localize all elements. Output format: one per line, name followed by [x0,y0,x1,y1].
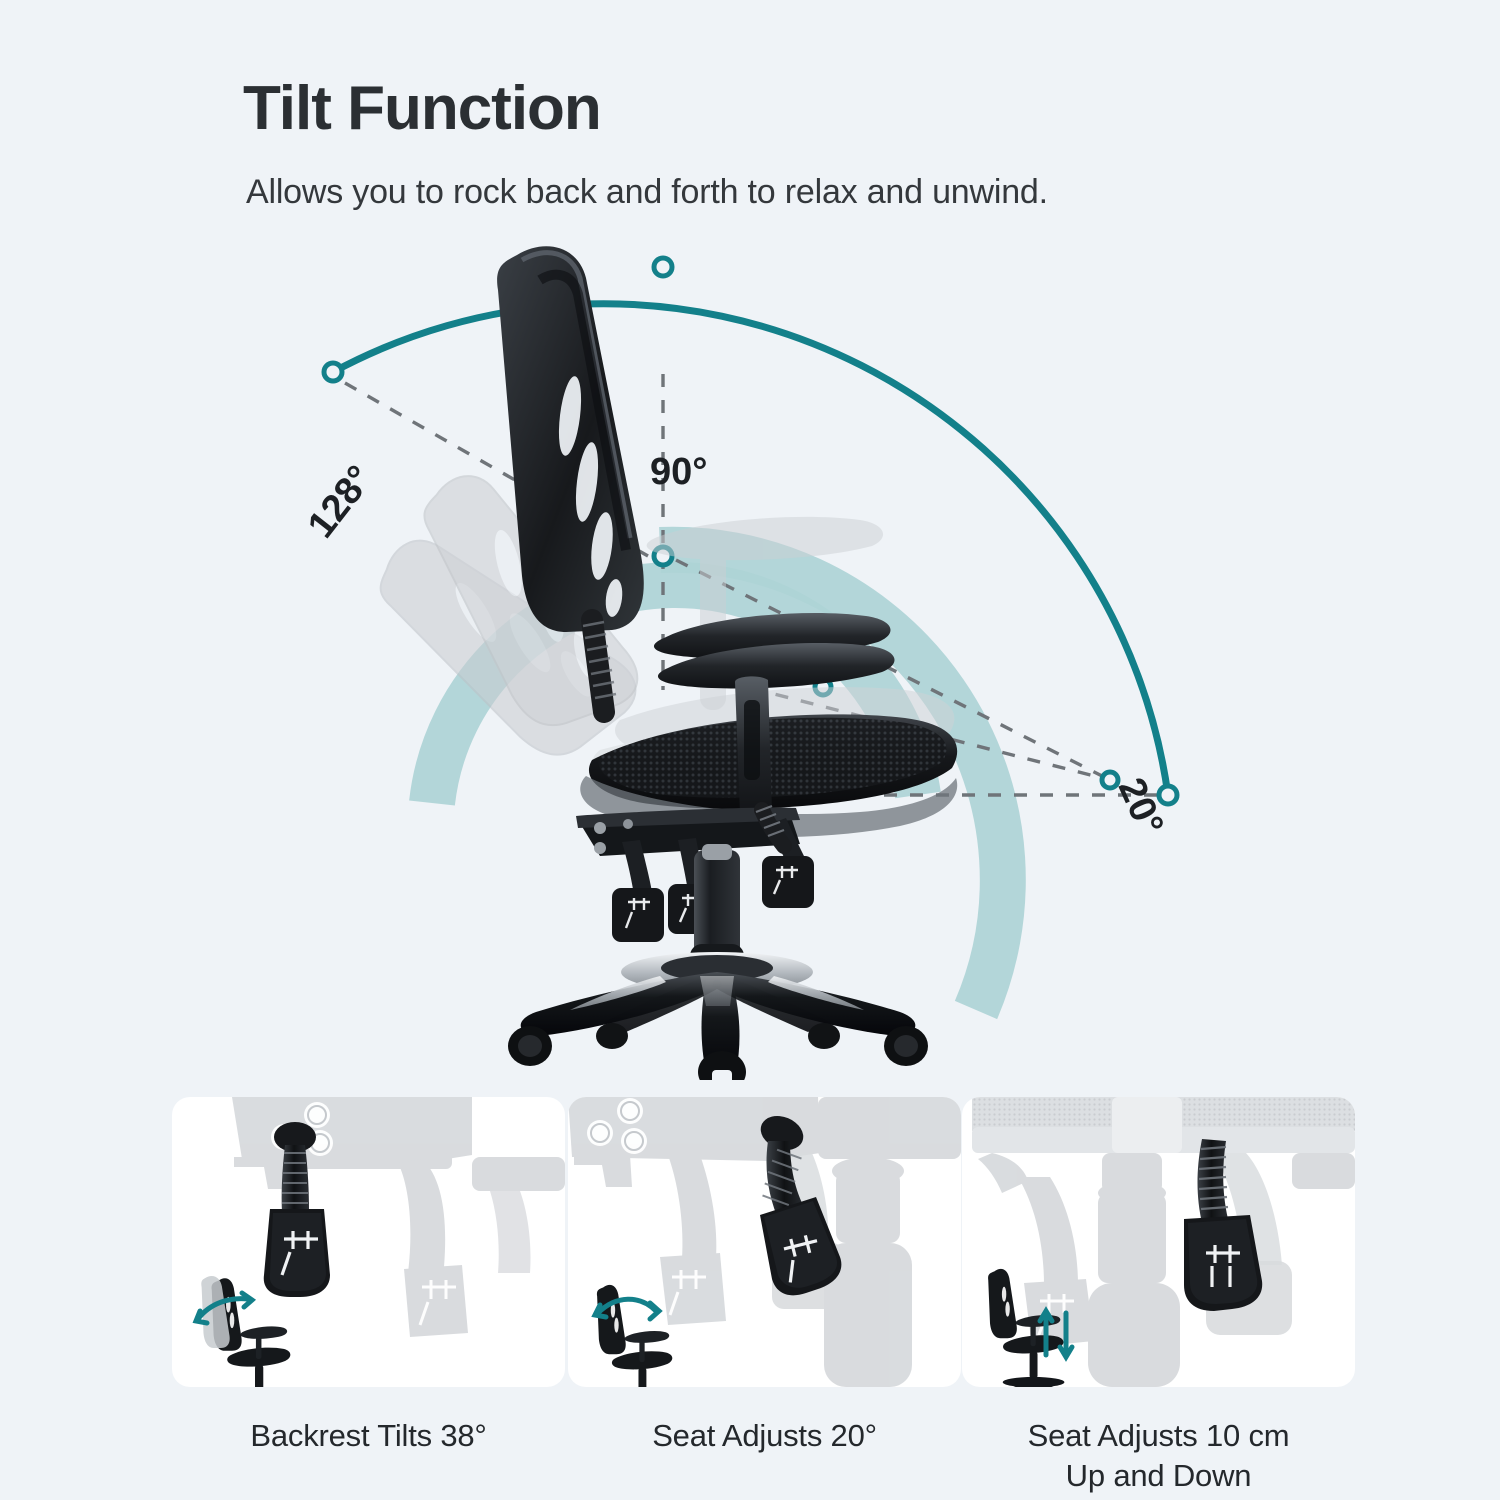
marker-90 [654,258,672,276]
marker-20 [1159,786,1177,804]
caption-backrest-tilt: Backrest Tilts 38° [172,1416,565,1456]
feature-card-seat-tilt [568,1097,961,1387]
angle-label-90: 90° [650,451,707,494]
tilt-angle-diagram: 128° 90° 20° [0,220,1500,1080]
caption-seat-height: Seat Adjusts 10 cm Up and Down [962,1416,1355,1495]
diagram-svg [0,220,1500,1080]
caption-seat-height-line2: Up and Down [962,1456,1355,1496]
feature-card-backrest-tilt [172,1097,565,1387]
feature-card-seat-height [962,1097,1355,1387]
page-subtitle: Allows you to rock back and forth to rel… [246,172,1048,213]
caption-seat-tilt: Seat Adjusts 20° [568,1416,961,1456]
caption-seat-height-line1: Seat Adjusts 10 cm [962,1416,1355,1456]
marker-128 [324,363,342,381]
page-title: Tilt Function [243,78,601,140]
feature-card-row [0,1097,1500,1397]
ghost-seat-slab [972,1097,1355,1153]
infographic-page: Tilt Function Allows you to rock back an… [0,0,1500,1500]
